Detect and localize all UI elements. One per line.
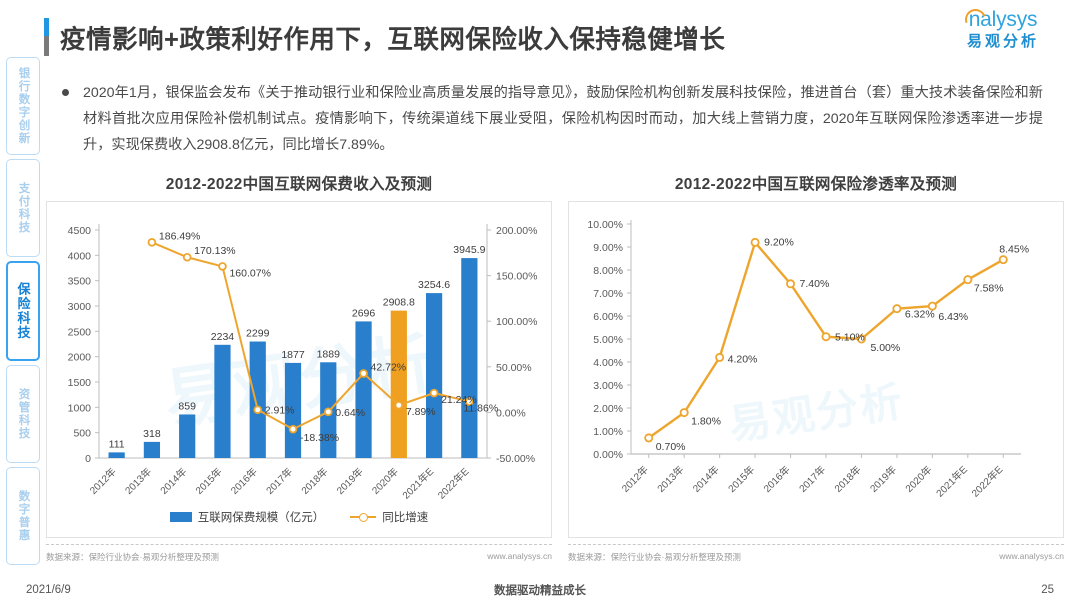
svg-text:11.86%: 11.86%: [463, 403, 498, 415]
legend-label-bar: 互联网保费规模（亿元）: [198, 509, 325, 525]
sidebar-item-asset-management-tech[interactable]: 资管科技: [6, 365, 40, 463]
svg-text:111: 111: [109, 438, 125, 450]
svg-text:5.10%: 5.10%: [835, 332, 865, 344]
svg-text:7.00%: 7.00%: [593, 288, 623, 300]
chart-box-premium: 易观分析 05001000150020002500300035004000450…: [46, 201, 552, 538]
svg-text:4.20%: 4.20%: [728, 353, 758, 365]
chart-source-premium: 数据来源：保险行业协会·易观分析整理及预测 www.analysys.cn: [46, 544, 552, 563]
svg-text:2018年: 2018年: [298, 465, 330, 497]
svg-text:4000: 4000: [68, 250, 92, 262]
svg-text:6.43%: 6.43%: [938, 311, 968, 323]
svg-text:5.00%: 5.00%: [593, 334, 623, 346]
sidebar-item-label: 资管科技: [17, 388, 30, 440]
bullet-dot-icon: [62, 89, 69, 96]
title-accent-bar: [44, 18, 49, 56]
chart-title-premium: 2012-2022中国互联网保费收入及预测: [46, 172, 552, 194]
chart-source-penetration: 数据来源：保险行业协会·易观分析整理及预测 www.analysys.cn: [568, 544, 1064, 563]
svg-text:1877: 1877: [281, 349, 305, 361]
svg-text:2021年E: 2021年E: [933, 463, 970, 500]
svg-text:0.00%: 0.00%: [496, 407, 526, 419]
svg-text:2014年: 2014年: [157, 465, 189, 497]
sidebar-item-label: 保险科技: [17, 282, 30, 340]
svg-text:2.91%: 2.91%: [265, 405, 295, 417]
svg-text:2500: 2500: [68, 326, 92, 338]
legend-swatch-bar-icon: [170, 512, 192, 522]
svg-text:0.00%: 0.00%: [593, 449, 623, 461]
svg-text:1500: 1500: [68, 377, 92, 389]
chart-panel-premium: 2012-2022中国互联网保费收入及预测 易观分析 0500100015002…: [46, 172, 552, 567]
sidebar-item-label: 数字普惠: [17, 490, 30, 542]
sidebar-item-insurance-tech[interactable]: 保险科技: [6, 261, 40, 361]
svg-text:2013年: 2013年: [654, 463, 686, 495]
svg-text:0: 0: [85, 453, 91, 465]
svg-text:7.58%: 7.58%: [974, 283, 1004, 295]
sidebar: 银行数字创新 支付科技 保险科技 资管科技 数字普惠: [6, 57, 40, 565]
svg-text:10.00%: 10.00%: [587, 219, 623, 231]
svg-text:6.00%: 6.00%: [593, 311, 623, 323]
svg-text:7.89%: 7.89%: [406, 406, 436, 418]
svg-text:2014年: 2014年: [690, 463, 722, 495]
svg-text:2020年: 2020年: [902, 463, 934, 495]
svg-text:4500: 4500: [68, 225, 92, 237]
footer-date: 2021/6/9: [26, 584, 71, 596]
svg-text:2015年: 2015年: [193, 465, 225, 497]
svg-text:-18.38%: -18.38%: [300, 432, 339, 444]
svg-text:50.00%: 50.00%: [496, 362, 532, 374]
svg-text:2019年: 2019年: [867, 463, 899, 495]
chart-box-penetration: 易观分析 0.00%1.00%2.00%3.00%4.00%5.00%6.00%…: [568, 201, 1064, 538]
svg-text:150.00%: 150.00%: [496, 271, 537, 283]
source-label: 数据来源：保险行业协会·易观分析整理及预测: [568, 551, 741, 563]
sidebar-item-label: 支付科技: [17, 182, 30, 234]
svg-text:0.70%: 0.70%: [656, 441, 686, 453]
svg-text:2017年: 2017年: [796, 463, 828, 495]
svg-text:2012年: 2012年: [619, 463, 651, 495]
svg-text:2017年: 2017年: [263, 465, 295, 497]
svg-text:3000: 3000: [68, 301, 92, 313]
svg-text:2018年: 2018年: [832, 463, 864, 495]
svg-text:100.00%: 100.00%: [496, 316, 537, 328]
svg-text:2000: 2000: [68, 352, 92, 364]
footer: 2021/6/9 数据驱动精益成长 25: [0, 578, 1080, 602]
footer-slogan: 数据驱动精益成长: [0, 582, 1080, 598]
logo-wordmark: nalysys: [969, 8, 1038, 32]
svg-text:9.00%: 9.00%: [593, 242, 623, 254]
analysys-logo: nalysys 易观分析: [944, 8, 1062, 60]
svg-text:5.00%: 5.00%: [870, 342, 900, 354]
bullet-text: 2020年1月，银保监会发布《关于推动银行业和保险业高质量发展的指导意见》，鼓励…: [83, 80, 1043, 158]
svg-text:2015年: 2015年: [725, 463, 757, 495]
svg-text:42.72%: 42.72%: [371, 361, 407, 373]
svg-text:2908.8: 2908.8: [383, 297, 415, 309]
bullet-paragraph: 2020年1月，银保监会发布《关于推动银行业和保险业高质量发展的指导意见》，鼓励…: [62, 80, 1062, 158]
svg-text:2020年: 2020年: [369, 465, 401, 497]
svg-text:2022年E: 2022年E: [969, 463, 1006, 500]
svg-text:-50.00%: -50.00%: [496, 453, 535, 465]
svg-text:8.45%: 8.45%: [999, 244, 1029, 256]
source-label: 数据来源：保险行业协会·易观分析整理及预测: [46, 551, 219, 563]
chart-svg-premium: 050010001500200025003000350040004500-50.…: [47, 202, 551, 538]
svg-text:2299: 2299: [246, 328, 270, 340]
sidebar-item-digital-inclusive-finance[interactable]: 数字普惠: [6, 467, 40, 565]
logo-chinese-name: 易观分析: [944, 32, 1062, 51]
svg-text:0.64%: 0.64%: [335, 407, 365, 419]
svg-text:2696: 2696: [352, 307, 376, 319]
svg-text:318: 318: [143, 428, 161, 440]
svg-text:186.49%: 186.49%: [159, 230, 200, 242]
svg-text:3945.9: 3945.9: [453, 244, 485, 256]
legend-item-bar[interactable]: 互联网保费规模（亿元）: [170, 509, 325, 525]
svg-text:1889: 1889: [317, 348, 341, 360]
svg-text:6.32%: 6.32%: [905, 309, 935, 321]
chart-title-penetration: 2012-2022中国互联网保险渗透率及预测: [568, 172, 1064, 194]
svg-text:1000: 1000: [68, 402, 92, 414]
svg-text:1.00%: 1.00%: [593, 426, 623, 438]
page-title: 疫情影响+政策利好作用下，互联网保险收入保持稳健增长: [60, 19, 725, 56]
svg-text:200.00%: 200.00%: [496, 225, 537, 237]
svg-text:500: 500: [73, 428, 91, 440]
svg-text:160.07%: 160.07%: [229, 267, 270, 279]
svg-text:2.00%: 2.00%: [593, 403, 623, 415]
sidebar-item-payment-tech[interactable]: 支付科技: [6, 159, 40, 257]
svg-text:2021年E: 2021年E: [399, 465, 436, 502]
svg-text:170.13%: 170.13%: [194, 245, 235, 257]
svg-text:3.00%: 3.00%: [593, 380, 623, 392]
svg-text:9.20%: 9.20%: [764, 236, 794, 248]
svg-text:859: 859: [178, 400, 196, 412]
chart-svg-penetration: 0.00%1.00%2.00%3.00%4.00%5.00%6.00%7.00%…: [569, 202, 1063, 538]
source-url: www.analysys.cn: [999, 551, 1064, 563]
chart-panel-penetration: 2012-2022中国互联网保险渗透率及预测 易观分析 0.00%1.00%2.…: [568, 172, 1064, 567]
chart-legend-premium: 互联网保费规模（亿元） 同比增速: [47, 509, 551, 525]
legend-item-line[interactable]: 同比增速: [350, 509, 428, 525]
page-header: 疫情影响+政策利好作用下，互联网保险收入保持稳健增长: [44, 14, 725, 60]
svg-text:2234: 2234: [211, 331, 235, 343]
legend-swatch-line-icon: [350, 512, 376, 522]
svg-text:2012年: 2012年: [87, 465, 119, 497]
svg-text:2016年: 2016年: [761, 463, 793, 495]
svg-text:4.00%: 4.00%: [593, 357, 623, 369]
svg-text:3500: 3500: [68, 276, 92, 288]
svg-text:2013年: 2013年: [122, 465, 154, 497]
legend-label-line: 同比增速: [382, 509, 428, 525]
svg-text:7.40%: 7.40%: [800, 278, 830, 290]
svg-text:2016年: 2016年: [228, 465, 260, 497]
source-url: www.analysys.cn: [487, 551, 552, 563]
svg-text:2022年E: 2022年E: [435, 465, 472, 502]
footer-page-number: 25: [1041, 584, 1054, 596]
svg-text:2019年: 2019年: [334, 465, 366, 497]
svg-text:1.80%: 1.80%: [691, 416, 721, 428]
sidebar-item-label: 银行数字创新: [17, 67, 30, 145]
svg-text:3254.6: 3254.6: [418, 279, 450, 291]
sidebar-item-bank-digital-innovation[interactable]: 银行数字创新: [6, 57, 40, 155]
svg-text:8.00%: 8.00%: [593, 265, 623, 277]
